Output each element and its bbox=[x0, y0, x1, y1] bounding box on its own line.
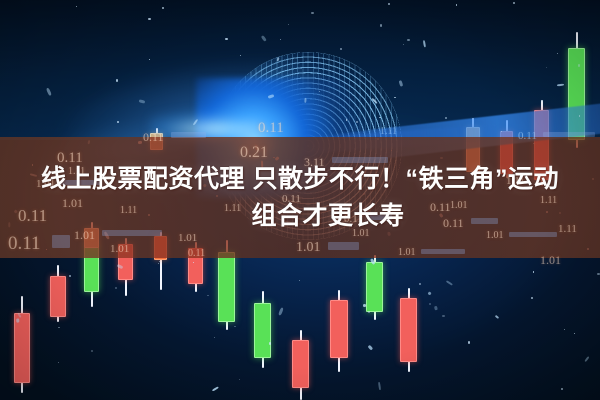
candlestick-body bbox=[330, 300, 348, 358]
candlestick-body bbox=[254, 303, 271, 358]
candlestick-body bbox=[218, 252, 235, 322]
candlestick-c11 bbox=[330, 290, 348, 372]
candlestick-c02 bbox=[50, 265, 66, 322]
candlestick-c12 bbox=[366, 255, 383, 320]
candlestick-body bbox=[292, 340, 309, 388]
candlestick-c09 bbox=[254, 291, 271, 368]
headline-line-2: 组合才更长寿 bbox=[195, 200, 404, 233]
candlestick-body bbox=[14, 313, 30, 383]
headline-block: 线上股票配资代理 只散步不行！“铁三角”运动 组合才更长寿 bbox=[0, 137, 600, 258]
candlestick-body bbox=[366, 262, 383, 312]
candlestick-c13 bbox=[400, 288, 417, 372]
candlestick-c01 bbox=[14, 296, 30, 393]
banner-image: 0.110.110.111.011.011.111.011.011.110.11… bbox=[0, 0, 600, 400]
headline-line-1: 线上股票配资代理 只散步不行！“铁三角”运动 bbox=[41, 163, 559, 196]
candlestick-body bbox=[50, 276, 66, 317]
candlestick-body bbox=[400, 298, 417, 362]
candlestick-c10 bbox=[292, 330, 309, 400]
